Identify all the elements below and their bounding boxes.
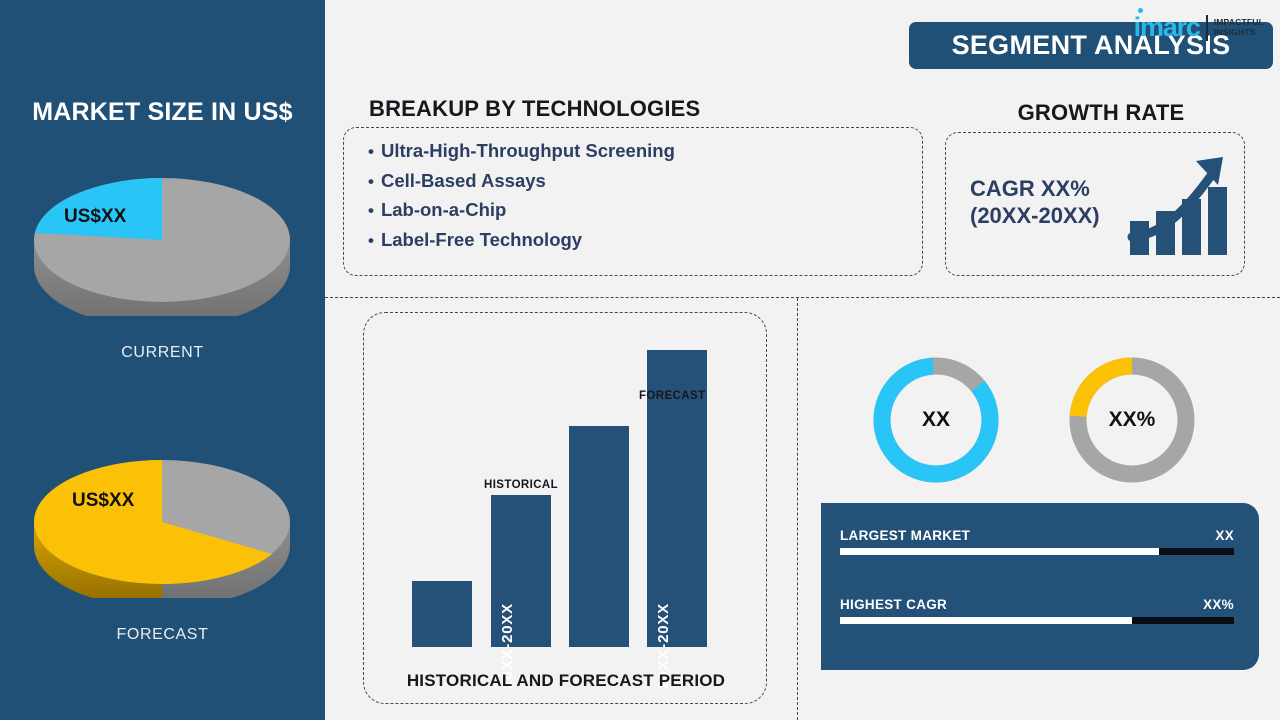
- infographic-root: MARKET SIZE IN US$: [0, 0, 1280, 720]
- technology-item-label: Label-Free Technology: [381, 231, 582, 250]
- metric-label: LARGEST MARKET: [840, 528, 970, 543]
- metric-label: HIGHEST CAGR: [840, 597, 947, 612]
- logo-divider: [1206, 15, 1208, 41]
- technology-item-label: Ultra-High-Throughput Screening: [381, 142, 675, 161]
- donut-chart-left: XX: [868, 352, 1004, 488]
- technologies-panel: • Ultra-High-Throughput Screening • Cell…: [343, 127, 923, 276]
- donut-chart-right: XX%: [1064, 352, 1200, 488]
- current-pie-label: CURRENT: [0, 344, 325, 362]
- logo-dot-icon: [1138, 8, 1143, 13]
- growth-rate-text: CAGR XX% (20XX-20XX): [970, 176, 1100, 230]
- logo-word-text: imarc: [1134, 14, 1200, 41]
- key-metrics-card: LARGEST MARKET XX HIGHEST CAGR XX%: [821, 503, 1259, 670]
- metric-highest-cagr: HIGHEST CAGR XX%: [840, 597, 1234, 624]
- logo-tagline-line2: INSIGHTS: [1214, 28, 1264, 38]
- vertical-divider: [797, 298, 798, 720]
- growth-rate-panel: CAGR XX% (20XX-20XX): [945, 132, 1245, 276]
- bullet-icon: •: [368, 173, 374, 190]
- bullet-icon: •: [368, 143, 374, 160]
- metric-progress-track: [840, 548, 1234, 555]
- forecast-pie-label: FORECAST: [0, 626, 325, 644]
- current-pie-value: US$XX: [64, 206, 126, 228]
- forecast-pie-chart: US$XX FORECAST: [0, 430, 325, 644]
- forecast-pie-graphic: [31, 438, 293, 598]
- current-pie-graphic: [31, 156, 293, 316]
- metric-progress-fill: [840, 548, 1159, 555]
- metric-value: XX%: [1203, 597, 1234, 612]
- technology-item: • Lab-on-a-Chip: [368, 201, 922, 220]
- metric-progress-fill: [840, 617, 1132, 624]
- cagr-period-line: (20XX-20XX): [970, 203, 1100, 230]
- technology-item: • Label-Free Technology: [368, 231, 922, 250]
- imarc-logo: imarc IMPACTFUL INSIGHTS: [1134, 14, 1264, 41]
- historical-annotation: HISTORICAL: [484, 479, 558, 491]
- technology-item: • Cell-Based Assays: [368, 172, 922, 191]
- growth-chart-icon: [1126, 149, 1230, 266]
- bar-chart-bar: [569, 426, 629, 647]
- header-band: SEGMENT ANALYSIS imarc IMPACTFUL INSIGHT…: [325, 0, 1280, 92]
- current-pie-chart: US$XX CURRENT: [0, 148, 325, 362]
- bullet-icon: •: [368, 232, 374, 249]
- technologies-heading: BREAKUP BY TECHNOLOGIES: [369, 96, 700, 122]
- donut-charts-row: XX XX%: [820, 352, 1260, 492]
- metric-value: XX: [1215, 528, 1234, 543]
- bullet-icon: •: [368, 202, 374, 219]
- metric-progress-track: [840, 617, 1234, 624]
- growth-rate-heading: GROWTH RATE: [945, 100, 1257, 126]
- sidebar-title: MARKET SIZE IN US$: [0, 98, 325, 127]
- technology-item: • Ultra-High-Throughput Screening: [368, 142, 922, 161]
- technology-item-label: Cell-Based Assays: [381, 172, 546, 191]
- logo-wordmark: imarc: [1134, 14, 1200, 41]
- metric-largest-market: LARGEST MARKET XX: [840, 528, 1234, 555]
- forecast-pie-value: US$XX: [72, 490, 134, 512]
- logo-tagline: IMPACTFUL INSIGHTS: [1214, 18, 1264, 38]
- horizontal-divider: [325, 297, 1280, 298]
- technology-item-label: Lab-on-a-Chip: [381, 201, 506, 220]
- bar-chart-bar: [412, 581, 472, 647]
- forecast-annotation: FORECAST: [639, 390, 705, 402]
- cagr-line: CAGR XX%: [970, 176, 1100, 203]
- donut-left-value: XX: [868, 352, 1004, 488]
- bar-chart-axis-label: HISTORICAL AND FORECAST PERIOD: [364, 671, 768, 691]
- donut-right-value: XX%: [1064, 352, 1200, 488]
- market-size-sidebar: MARKET SIZE IN US$: [0, 0, 325, 720]
- historical-forecast-bar-chart: HISTORICAL FORECAST 20XX-20XX 20XX-20XX …: [363, 312, 767, 704]
